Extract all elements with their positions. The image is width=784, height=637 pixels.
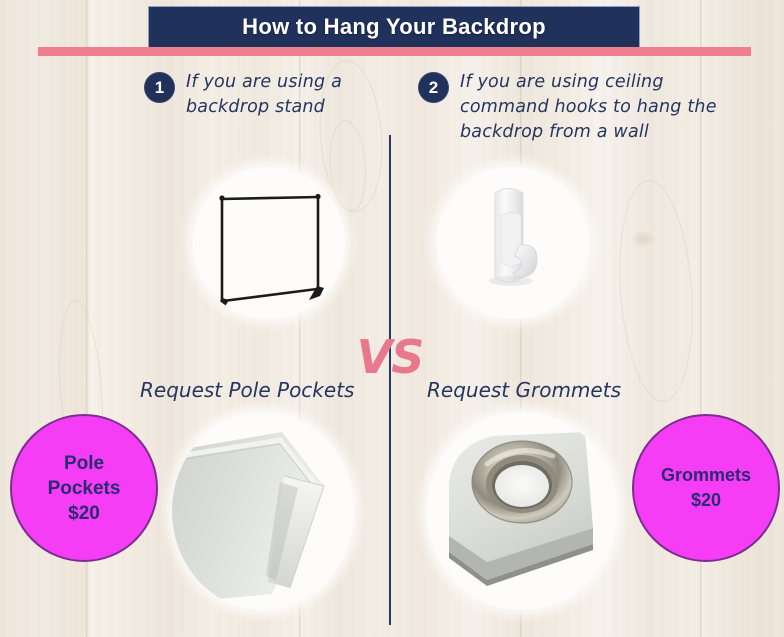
right-caption: Request Grommets xyxy=(427,378,621,402)
price-badge-line2: Pockets xyxy=(48,476,121,501)
command-hook-icon xyxy=(437,167,589,319)
price-badge-text: Grommets $20 xyxy=(655,463,757,513)
backdrop-stand-icon xyxy=(193,167,345,319)
pole-pocket-fabric-icon xyxy=(172,412,354,610)
infographic-canvas: How to Hang Your Backdrop 1 If you are u… xyxy=(0,0,784,637)
step-1: 1 If you are using a backdrop stand xyxy=(144,72,384,120)
step-description: If you are using a backdrop stand xyxy=(186,70,384,120)
page-title: How to Hang Your Backdrop xyxy=(242,14,546,40)
accent-bar xyxy=(38,47,751,56)
step-number-badge: 2 xyxy=(418,72,449,103)
pole-pocket-fabric-photo xyxy=(172,412,354,610)
grommets-price-badge[interactable]: Grommets $20 xyxy=(632,414,780,562)
price-badge-line1: Grommets xyxy=(661,463,751,488)
versus-label: VS xyxy=(352,330,428,384)
command-hook-photo xyxy=(437,167,589,319)
price-badge-amount: $20 xyxy=(661,488,751,513)
backdrop-stand-photo xyxy=(193,167,345,319)
grommet-photo xyxy=(427,412,617,610)
price-badge-text: Pole Pockets $20 xyxy=(42,451,127,526)
pole-pockets-price-badge[interactable]: Pole Pockets $20 xyxy=(10,414,158,562)
step-description: If you are using ceiling command hooks t… xyxy=(460,70,728,145)
price-badge-line1: Pole xyxy=(48,451,121,476)
left-caption: Request Pole Pockets xyxy=(140,378,354,402)
title-banner: How to Hang Your Backdrop xyxy=(148,6,640,48)
step-number-badge: 1 xyxy=(144,72,175,103)
grommet-icon xyxy=(427,412,617,610)
wood-knot xyxy=(630,230,656,248)
price-badge-amount: $20 xyxy=(48,501,121,526)
step-2: 2 If you are using ceiling command hooks… xyxy=(418,72,728,145)
